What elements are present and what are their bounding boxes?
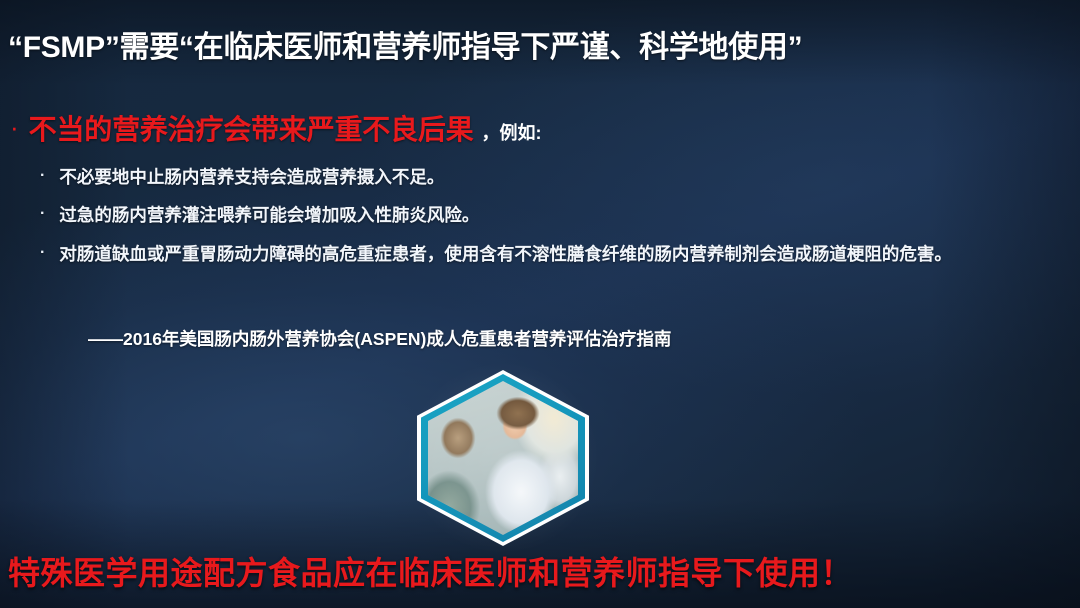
lead-bullet-row: · 不当的营养治疗会带来严重不良后果 ，例如: (10, 108, 541, 148)
lead-emphasis-text: 不当的营养治疗会带来严重不良后果 (29, 108, 474, 148)
list-item: · 对肠道缺血或严重胃肠动力障碍的高危重症患者，使用含有不溶性膳食纤维的肠内营养… (40, 242, 1040, 267)
bullet-dot-icon: · (40, 202, 45, 225)
list-item: · 不必要地中止肠内营养支持会造成营养摄入不足。 (40, 165, 1050, 190)
sub-bullet-list: · 不必要地中止肠内营养支持会造成营养摄入不足。 · 过急的肠内营养灌注喂养可能… (40, 165, 1050, 280)
slide-canvas: “FSMP”需要“在临床医师和营养师指导下严谨、科学地使用” · 不当的营养治疗… (0, 0, 1080, 608)
lead-bullet-dot-icon: · (10, 114, 19, 140)
page-title: “FSMP”需要“在临床医师和营养师指导下严谨、科学地使用” (8, 22, 1068, 66)
list-item-label: 不必要地中止肠内营养支持会造成营养摄入不足。 (59, 165, 1050, 190)
hexagon-photo-frame (417, 370, 589, 546)
list-item: · 过急的肠内营养灌注喂养可能会增加吸入性肺炎风险。 (40, 203, 1050, 228)
citation-source: ——2016年美国肠内肠外营养协会(ASPEN)成人危重患者营养评估治疗指南 (88, 326, 671, 351)
bullet-dot-icon: · (40, 241, 45, 264)
bottom-banner-text: 特殊医学用途配方食品应在临床医师和营养师指导下使用！ (8, 548, 1072, 594)
bullet-dot-icon: · (40, 164, 45, 187)
list-item-label: 过急的肠内营养灌注喂养可能会增加吸入性肺炎风险。 (59, 203, 1050, 228)
list-item-label: 对肠道缺血或严重胃肠动力障碍的高危重症患者，使用含有不溶性膳食纤维的肠内营养制剂… (59, 242, 1040, 267)
lead-suffix-text: ，例如: (481, 119, 541, 145)
